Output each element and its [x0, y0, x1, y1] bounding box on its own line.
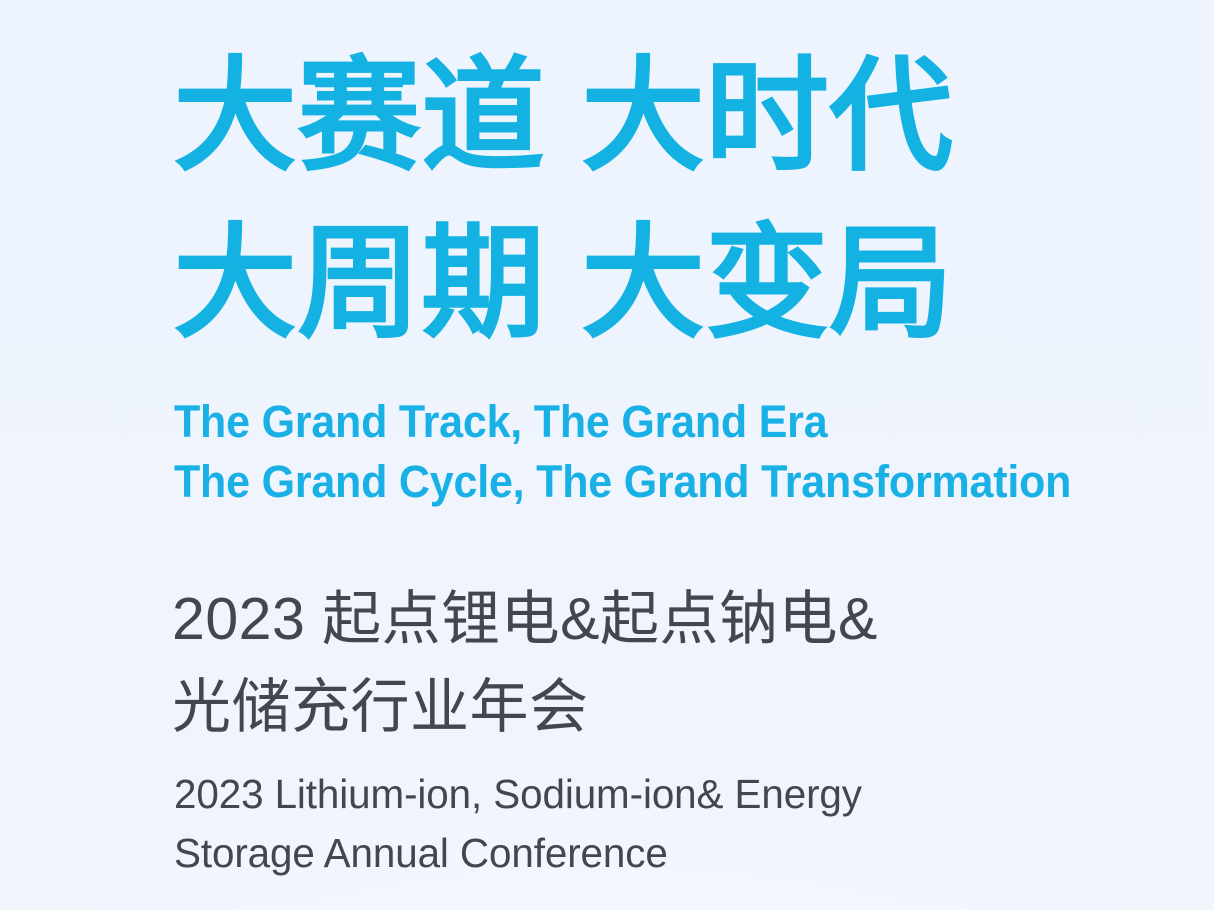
headline-line-1-phrase-2: 大时代	[581, 48, 953, 186]
headline-line-1: 大赛道大时代	[173, 34, 1073, 201]
event-title-en-line-1: 2023 Lithium-ion, Sodium-ion& Energy	[174, 765, 862, 824]
poster-canvas: 大赛道大时代 大周期大变局 The Grand Track, The Grand…	[0, 0, 1214, 910]
event-title-cn-line-2: 光储充行业年会	[172, 663, 878, 751]
event-title-cn-line-1: 2023 起点锂电&起点钠电&	[172, 575, 878, 663]
headline-line-1-phrase-1: 大赛道	[173, 48, 545, 186]
tagline-line-1: The Grand Track, The Grand Era	[174, 392, 1071, 452]
event-title-en-line-2: Storage Annual Conference	[174, 824, 862, 883]
headline-line-2-phrase-2: 大变局	[581, 215, 953, 353]
event-title-chinese: 2023 起点锂电&起点钠电& 光储充行业年会	[172, 575, 878, 751]
headline-line-2-phrase-1: 大周期	[173, 215, 545, 353]
tagline-line-2: The Grand Cycle, The Grand Transformatio…	[174, 452, 1071, 512]
headline-line-2: 大周期大变局	[173, 201, 1073, 368]
poster-tagline: The Grand Track, The Grand Era The Grand…	[174, 392, 1113, 512]
poster-headline: 大赛道大时代 大周期大变局	[173, 34, 1073, 368]
event-title-english: 2023 Lithium-ion, Sodium-ion& Energy Sto…	[174, 765, 872, 883]
